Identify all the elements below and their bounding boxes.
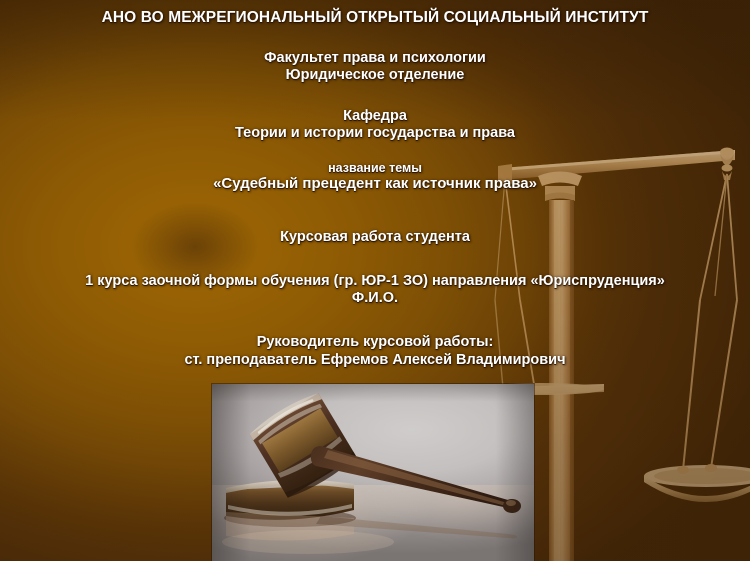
spacer bbox=[0, 307, 750, 334]
spacer bbox=[0, 27, 750, 50]
student-info: 1 курса заочной формы обучения (гр. ЮР-1… bbox=[0, 273, 750, 290]
division-line: Юридическое отделение bbox=[0, 67, 750, 84]
faculty-line: Факультет права и психологии bbox=[0, 50, 750, 67]
judge-gavel-photo bbox=[212, 384, 534, 561]
spacer bbox=[0, 246, 750, 273]
work-type: Курсовая работа студента bbox=[0, 229, 750, 246]
spacer bbox=[0, 142, 750, 161]
spacer bbox=[0, 193, 750, 229]
spacer bbox=[0, 85, 750, 108]
slide-text-block: АНО ВО МЕЖРЕГИОНАЛЬНЫЙ ОТКРЫТЫЙ СОЦИАЛЬН… bbox=[0, 0, 750, 369]
presentation-title-slide: АНО ВО МЕЖРЕГИОНАЛЬНЫЙ ОТКРЫТЫЙ СОЦИАЛЬН… bbox=[0, 0, 750, 561]
topic-title: «Судебный прецедент как источник права» bbox=[0, 175, 750, 193]
photo-edge-shading bbox=[212, 384, 534, 561]
chair-label: Кафедра bbox=[0, 108, 750, 125]
supervisor-name: ст. преподаватель Ефремов Алексей Владим… bbox=[0, 352, 750, 369]
institution-title: АНО ВО МЕЖРЕГИОНАЛЬНЫЙ ОТКРЫТЫЙ СОЦИАЛЬН… bbox=[0, 0, 750, 27]
supervisor-label: Руководитель курсовой работы: bbox=[0, 334, 750, 351]
student-name: Ф.И.О. bbox=[0, 290, 750, 307]
chair-name: Теории и истории государства и права bbox=[0, 125, 750, 142]
topic-label: название темы bbox=[0, 161, 750, 176]
